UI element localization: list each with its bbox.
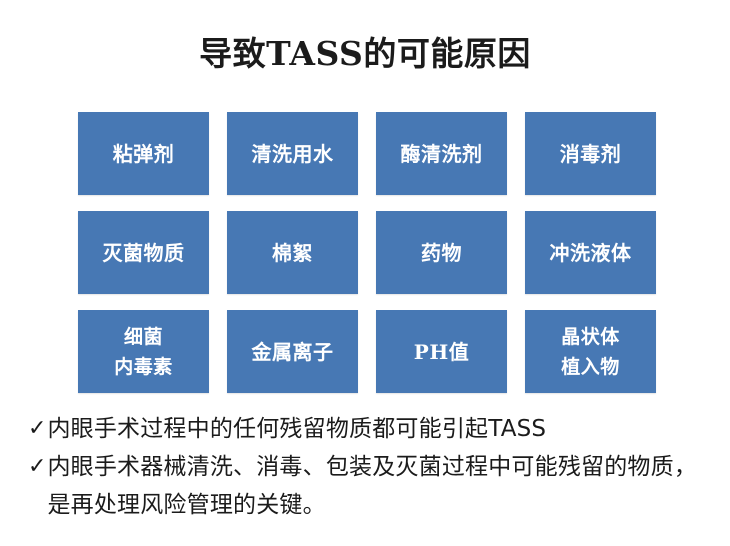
checkmark-icon: ✓ <box>28 448 46 486</box>
cause-box[interactable]: 细菌 内毒素 <box>78 310 209 393</box>
cause-box[interactable]: 粘弹剂 <box>78 112 209 195</box>
list-item-text: 内眼手术过程中的任何残留物质都可能引起TASS <box>47 410 718 448</box>
cause-box[interactable]: 冲洗液体 <box>525 211 656 294</box>
page-title: 导致TASS的可能原因 <box>0 32 730 76</box>
cause-box[interactable]: 酶清洗剂 <box>376 112 507 195</box>
cause-box[interactable]: 晶状体 植入物 <box>525 310 656 393</box>
cause-box[interactable]: 棉絮 <box>227 211 358 294</box>
cause-box[interactable]: 灭菌物质 <box>78 211 209 294</box>
list-item-text: 内眼手术器械清洗、消毒、包装及灭菌过程中可能残留的物质，是再处理风险管理的关键。 <box>47 448 718 524</box>
bullet-list: ✓ 内眼手术过程中的任何残留物质都可能引起TASS ✓ 内眼手术器械清洗、消毒、… <box>28 410 718 524</box>
cause-box[interactable]: 消毒剂 <box>525 112 656 195</box>
cause-box[interactable]: 药物 <box>376 211 507 294</box>
cause-box[interactable]: PH值 <box>376 310 507 393</box>
cause-grid: 粘弹剂 清洗用水 酶清洗剂 消毒剂 灭菌物质 棉絮 药物 冲洗液体 细菌 内毒素… <box>78 112 656 393</box>
cause-box[interactable]: 清洗用水 <box>227 112 358 195</box>
list-item: ✓ 内眼手术过程中的任何残留物质都可能引起TASS <box>28 410 718 448</box>
cause-box[interactable]: 金属离子 <box>227 310 358 393</box>
list-item: ✓ 内眼手术器械清洗、消毒、包装及灭菌过程中可能残留的物质，是再处理风险管理的关… <box>28 448 718 524</box>
checkmark-icon: ✓ <box>28 410 46 448</box>
slide-canvas: 导致TASS的可能原因 粘弹剂 清洗用水 酶清洗剂 消毒剂 灭菌物质 棉絮 药物… <box>0 0 730 546</box>
